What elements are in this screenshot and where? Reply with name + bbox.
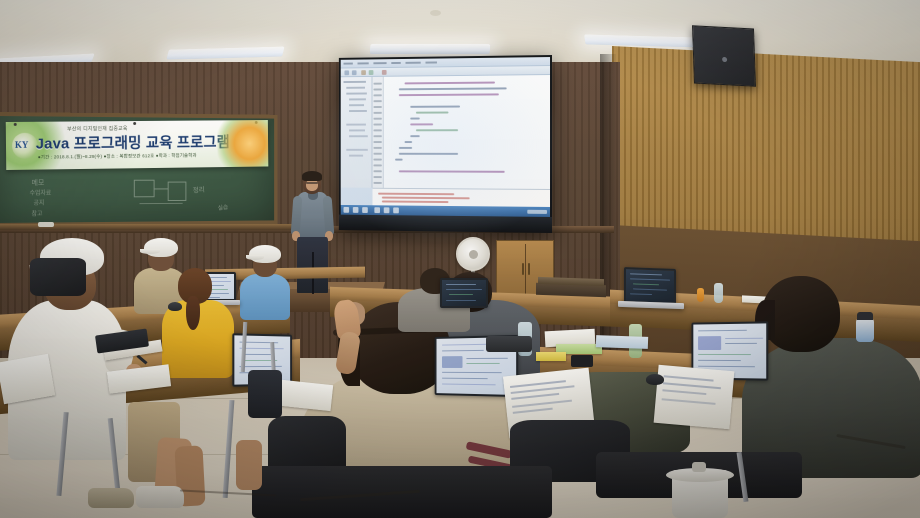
laptop-screen-back-center[interactable] xyxy=(440,278,488,308)
note-yellow-center xyxy=(536,352,566,361)
chalk-note-2: 수업자료 xyxy=(30,188,52,197)
paper-center-2 xyxy=(596,335,648,349)
speaker-indicator-icon xyxy=(722,57,727,62)
smartphone-center[interactable] xyxy=(571,355,593,367)
standing-fan xyxy=(456,237,490,271)
chair-back-mid xyxy=(486,336,532,352)
chalk-diagram-box-2 xyxy=(168,182,187,201)
student-blue-shirt-body xyxy=(240,274,290,320)
computer-mouse-left[interactable] xyxy=(168,302,182,311)
coffee-cup-tab xyxy=(692,462,706,472)
snack-box-back-right xyxy=(697,288,704,302)
taskbar-clock xyxy=(527,210,547,214)
instructor-glasses-icon xyxy=(306,182,318,184)
student-blue-cap xyxy=(249,245,281,263)
event-banner: KY 부산의 디지털인재 집중교육 Java 프로그래밍 교육 프로그램 ●기간… xyxy=(6,120,269,170)
screen-bottom-bar xyxy=(339,215,552,233)
leg-center-left xyxy=(236,440,262,490)
editor-line-number-gutter xyxy=(372,77,383,188)
chalk-note-4: 참고 xyxy=(32,209,43,218)
instructor-hair xyxy=(302,171,322,181)
ide-console-panel[interactable] xyxy=(372,188,550,207)
water-bottle-back-right xyxy=(714,283,723,303)
banner-pin-right xyxy=(255,121,258,124)
banner-pin-mid xyxy=(133,122,136,125)
chalk-note-1: 메모 xyxy=(32,178,45,188)
student-yellow-ponytail xyxy=(186,296,200,330)
classroom-photo: 메모 수업자료 공지 참고 정리 실습 KY 부산의 디지털인재 집중교육 Ja… xyxy=(0,0,920,518)
chalk-note-3: 공지 xyxy=(34,198,45,207)
ky-logo-text: KY xyxy=(15,140,28,150)
backpack-back-left xyxy=(30,258,86,296)
wall-speaker xyxy=(692,25,756,86)
ide-package-explorer[interactable] xyxy=(341,77,373,188)
student-mid-left-cap xyxy=(144,238,178,257)
student-mid-left-cap-brim xyxy=(140,249,160,254)
projection-screen xyxy=(339,55,552,233)
bottle-cap-right xyxy=(857,312,873,320)
chair-seat-left xyxy=(248,370,282,418)
chalk-eraser xyxy=(38,222,54,227)
chalk-note-5: 정리 xyxy=(192,185,205,196)
water-bottle-right xyxy=(856,318,874,342)
ceiling-detector xyxy=(430,10,441,16)
banner-bottom-line: ●기간 : 2018.8.1.(월)~8.29(수) ●장소 : 복합정보관 6… xyxy=(38,153,197,161)
banner-main-title: Java 프로그래밍 교육 프로그램 xyxy=(36,131,230,154)
chalk-note-6: 실습 xyxy=(217,202,228,212)
computer-mouse-center[interactable] xyxy=(646,374,664,385)
ceiling-light-3 xyxy=(370,44,491,54)
chalk-underline xyxy=(139,203,182,204)
sandal-left xyxy=(88,488,134,508)
ide-code-editor[interactable] xyxy=(372,75,550,189)
student-blue-cap-brim xyxy=(246,255,264,260)
paper-stack-foreground-right xyxy=(654,365,735,429)
sneaker-left xyxy=(136,486,184,508)
chalk-diagram-arrow xyxy=(155,188,168,189)
banner-pin-left xyxy=(14,123,17,126)
paper-far-left xyxy=(0,354,55,404)
fan-hub-icon xyxy=(469,250,478,259)
chalk-diagram-box-1 xyxy=(134,180,155,198)
projected-ide-image xyxy=(341,57,550,217)
laptop-screen-back-right[interactable] xyxy=(624,267,676,305)
